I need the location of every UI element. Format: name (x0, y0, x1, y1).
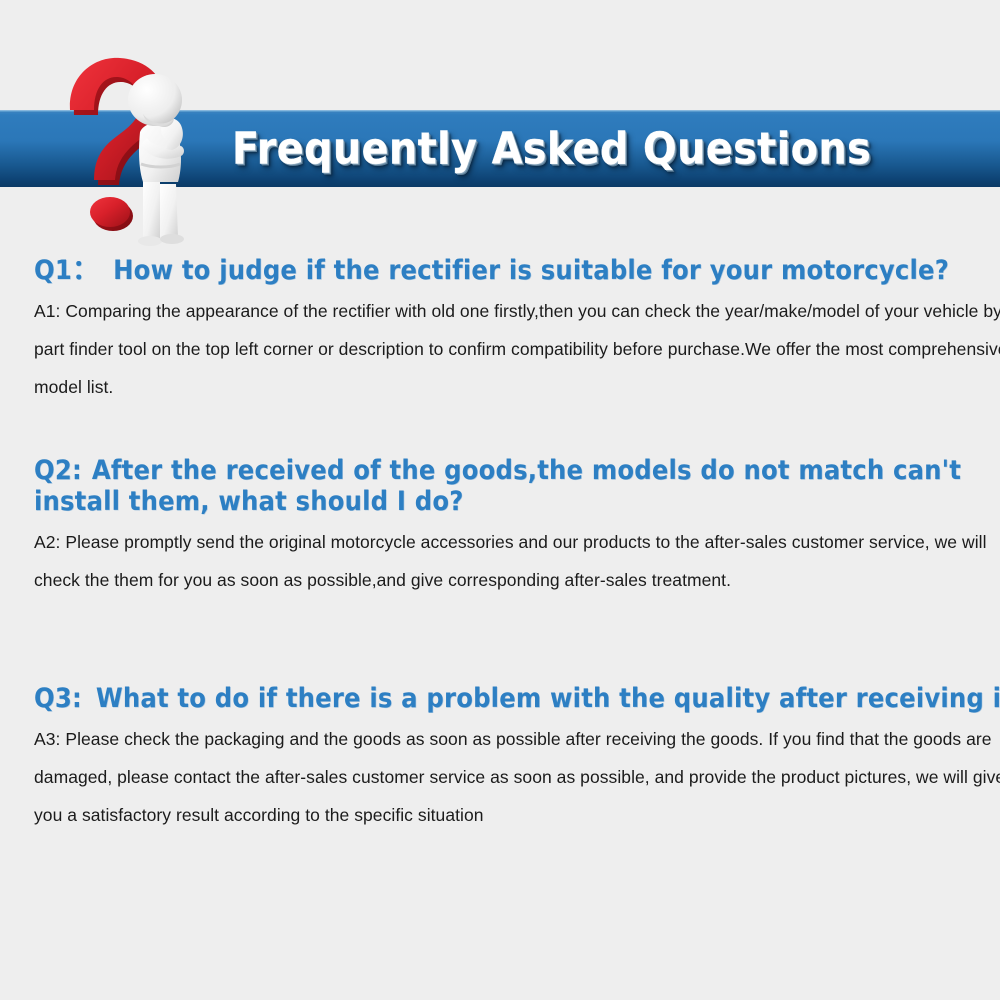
faq-answer-2: A2: Please promptly send the original mo… (34, 523, 1000, 599)
page-title: Frequently Asked Questions (232, 123, 871, 174)
faq-question-1: Q1：How to judge if the rectifier is suit… (34, 255, 1000, 286)
faq-question-2-text: After the received of the goods,the mode… (34, 455, 961, 517)
faq-answer-3: A3: Please check the packaging and the g… (34, 720, 1000, 834)
faq-answer-1: A1: Comparing the appearance of the rect… (34, 292, 1000, 406)
faq-answer-1-text: Comparing the appearance of the rectifie… (34, 301, 1000, 397)
question-mark-mascot-icon (48, 52, 198, 247)
faq-item-1: Q1：How to judge if the rectifier is suit… (0, 255, 1000, 406)
faq-question-3-text: What to do if there is a problem with th… (96, 683, 1000, 714)
faq-item-2: Q2:After the received of the goods,the m… (0, 455, 1000, 599)
faq-answer-2-text: Please promptly send the original motorc… (34, 532, 987, 590)
faq-answer-1-label: A1: (34, 301, 60, 321)
faq-question-1-label: Q1： (34, 255, 99, 286)
faq-question-2: Q2:After the received of the goods,the m… (34, 455, 1000, 517)
faq-answer-3-label: A3: (34, 729, 60, 749)
faq-question-3: Q3:What to do if there is a problem with… (34, 683, 1000, 714)
faq-question-1-text: How to judge if the rectifier is suitabl… (113, 255, 949, 286)
faq-answer-3-text: Please check the packaging and the goods… (34, 729, 1000, 825)
faq-answer-2-label: A2: (34, 532, 60, 552)
faq-item-3: Q3:What to do if there is a problem with… (0, 683, 1000, 834)
faq-question-3-label: Q3: (34, 683, 82, 714)
faq-question-2-label: Q2: (34, 455, 82, 486)
